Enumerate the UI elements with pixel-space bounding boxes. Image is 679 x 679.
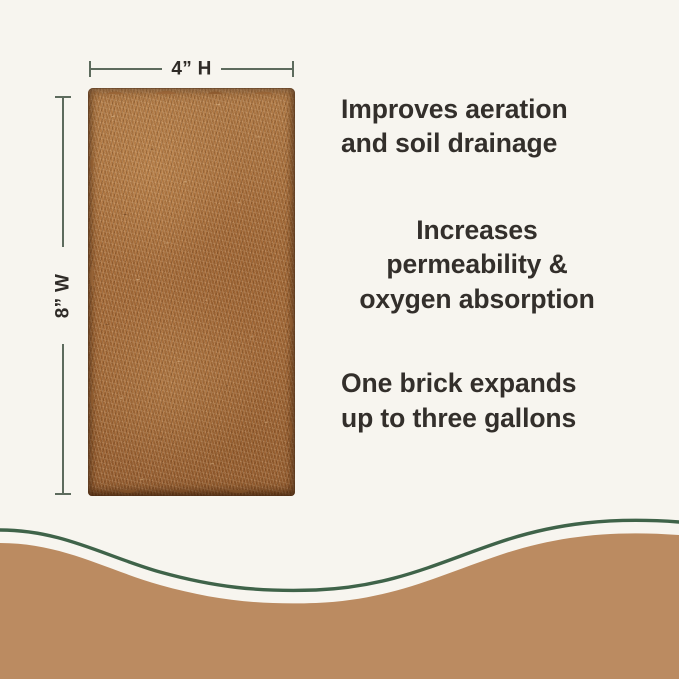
- dimension-rule-right: [221, 68, 293, 70]
- decorative-wave: [0, 499, 679, 679]
- dimension-rule-top: [62, 97, 64, 247]
- feature-line: permeability &: [341, 247, 613, 281]
- feature-line: Increases: [341, 213, 613, 247]
- coir-brick-image: [88, 88, 295, 496]
- dimension-line-horizontal: 4” H: [88, 60, 295, 78]
- dimension-rule-left: [90, 68, 162, 70]
- feature-line: One brick expands: [341, 366, 613, 400]
- feature-item-permeability: Increases permeability & oxygen absorpti…: [341, 213, 613, 316]
- feature-line: and soil drainage: [341, 126, 613, 160]
- dimension-rule-bottom: [62, 344, 64, 494]
- feature-line: up to three gallons: [341, 401, 613, 435]
- feature-item-expansion: One brick expands up to three gallons: [341, 366, 613, 435]
- feature-line: Improves aeration: [341, 92, 613, 126]
- dimension-label-width: 8” W: [54, 264, 73, 326]
- dimension-cap-bottom: [55, 493, 71, 495]
- feature-line: oxygen absorption: [341, 282, 613, 316]
- feature-list: Improves aeration and soil drainage Incr…: [341, 92, 613, 435]
- dimension-label-height: 4” H: [162, 60, 220, 79]
- infographic-canvas: 4” H 8” W Improves aeration and soil dra…: [0, 0, 679, 679]
- dimension-cap-right: [292, 61, 294, 77]
- coir-brick-texture: [88, 88, 295, 496]
- dimension-line-vertical: 8” W: [54, 95, 72, 496]
- feature-item-aeration: Improves aeration and soil drainage: [341, 92, 613, 161]
